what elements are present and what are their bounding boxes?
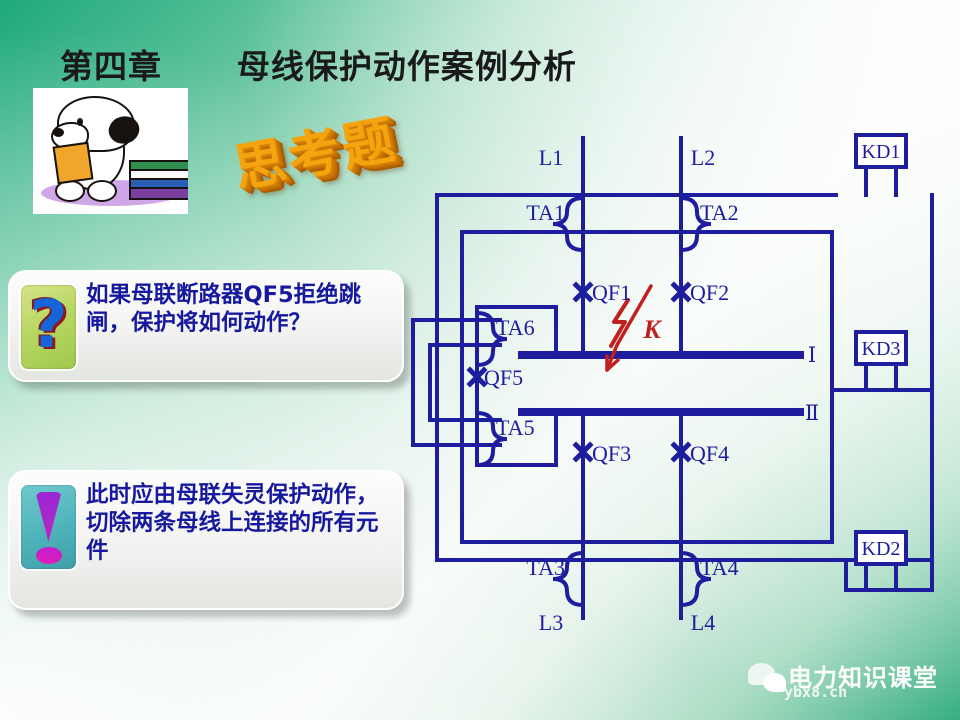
label-l1: L1 <box>539 145 563 170</box>
breaker-mark-qf3 <box>576 445 590 459</box>
label-ta3: TA3 <box>526 555 565 580</box>
relay-box-kd1[interactable] <box>856 135 906 167</box>
label-qf1: QF1 <box>592 280 631 305</box>
snoopy-eye <box>77 118 83 126</box>
callout-answer: 此时应由母联失灵保护动作，切除两条母线上连接的所有元件 <box>8 470 404 610</box>
ct-symbol-ta6 <box>477 313 507 365</box>
label-l3: L3 <box>539 610 563 635</box>
page-title: 第四章 母线保护动作案例分析 <box>60 40 680 88</box>
exclamation-mark-icon <box>19 483 78 571</box>
label-qf4: QF4 <box>690 441 729 466</box>
question-mark-icon: ? <box>19 283 78 371</box>
label-busbar-i: Ⅰ <box>808 343 816 367</box>
snoopy-leg-right <box>87 180 117 202</box>
watermark: 电力知识课堂 <box>748 655 953 701</box>
label-ta2: TA2 <box>700 200 739 225</box>
snoopy-nose <box>53 128 64 137</box>
label-qf2: QF2 <box>690 280 729 305</box>
label-qf5: QF5 <box>484 365 523 390</box>
label-kd1: KD1 <box>862 141 901 163</box>
label-ta1: TA1 <box>526 200 565 225</box>
fault-arrow-shaft <box>607 286 651 370</box>
label-kd3: KD3 <box>862 338 901 360</box>
label-fault-k: K <box>642 315 662 344</box>
ct-symbol-ta5 <box>477 413 507 465</box>
ct-symbol-ta4 <box>681 553 711 605</box>
ct-symbol-ta2 <box>681 198 711 250</box>
slide-canvas: 第四章 母线保护动作案例分析 思考题 ? 如果母联断路器QF5拒绝跳闸，保护将如… <box>0 0 960 720</box>
callout-question: ? 如果母联断路器QF5拒绝跳闸，保护将如何动作？ <box>8 270 404 382</box>
breaker-mark-qf2 <box>674 285 688 299</box>
relay-box-kd2[interactable] <box>856 532 906 564</box>
breaker-marks <box>470 285 688 459</box>
label-kd2: KD2 <box>862 538 901 560</box>
ct-symbol-ta1 <box>553 198 583 250</box>
label-ta5: TA5 <box>496 415 535 440</box>
breaker-mark-qf1 <box>576 285 590 299</box>
wechat-icon <box>748 663 788 693</box>
callout-answer-text: 此时应由母联失灵保护动作，切除两条母线上连接的所有元件 <box>86 481 392 565</box>
fault-symbol-k <box>607 286 651 370</box>
relay-box-kd3[interactable] <box>856 332 906 364</box>
callout-question-text: 如果母联断路器QF5拒绝跳闸，保护将如何动作？ <box>86 281 392 337</box>
breaker-mark-qf5 <box>470 370 484 384</box>
label-qf3: QF3 <box>592 441 631 466</box>
label-busbar-ii: Ⅱ <box>805 401 819 425</box>
fault-arrow-head <box>607 356 618 370</box>
open-book-icon <box>53 142 94 185</box>
label-ta6: TA6 <box>496 315 535 340</box>
book-stack-icon <box>129 160 187 196</box>
diagram-labels: L1 L2 L3 L4 TA1 TA2 TA3 TA4 TA5 TA6 QF1 … <box>484 141 900 635</box>
breaker-mark-qf4 <box>674 445 688 459</box>
snoopy-illustration <box>33 88 188 214</box>
ct-symbol-ta3 <box>553 553 583 605</box>
fault-lightning-bolt <box>611 300 628 346</box>
label-l4: L4 <box>691 610 715 635</box>
label-ta4: TA4 <box>700 555 739 580</box>
relay-boxes <box>856 135 906 564</box>
art-word-sikaoti: 思考题 <box>226 97 402 202</box>
label-l2: L2 <box>691 145 715 170</box>
watermark-url: ybx8.cn <box>784 683 847 701</box>
